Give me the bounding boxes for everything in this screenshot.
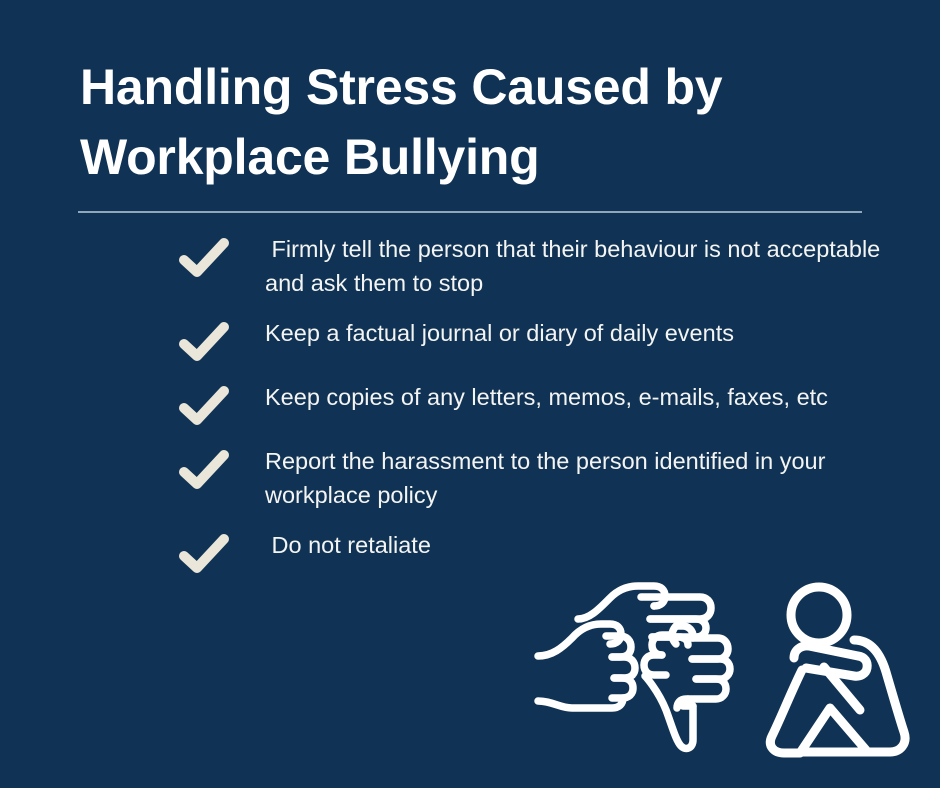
list-item: Keep a factual journal or diary of daily… [178,316,908,364]
seated-distressed-person-icon [762,580,914,760]
title-line-1: Handling Stress Caused by [80,52,870,122]
list-item: Firmly tell the person that their behavi… [178,232,908,300]
list-item-label: Report the harassment to the person iden… [230,444,908,512]
checkmark-icon [178,320,230,364]
title-divider [78,211,862,213]
checkmark-icon [178,236,230,280]
list-item-label: Keep a factual journal or diary of daily… [230,316,908,350]
list-item-label: Do not retaliate [230,528,908,562]
poster-canvas: Handling Stress Caused by Workplace Bull… [0,0,940,788]
list-item-label: Keep copies of any letters, memos, e-mai… [230,380,908,414]
list-item-label: Firmly tell the person that their behavi… [230,232,908,300]
checkmark-icon [178,532,230,576]
title-line-2: Workplace Bullying [80,122,870,192]
list-item: Do not retaliate [178,528,908,576]
list-item: Keep copies of any letters, memos, e-mai… [178,380,908,428]
pointing-hands-thumbs-down-icon [528,578,744,768]
checklist: Firmly tell the person that their behavi… [178,232,908,592]
list-item: Report the harassment to the person iden… [178,444,908,512]
checkmark-icon [178,384,230,428]
checkmark-icon [178,448,230,492]
page-title: Handling Stress Caused by Workplace Bull… [80,52,870,192]
